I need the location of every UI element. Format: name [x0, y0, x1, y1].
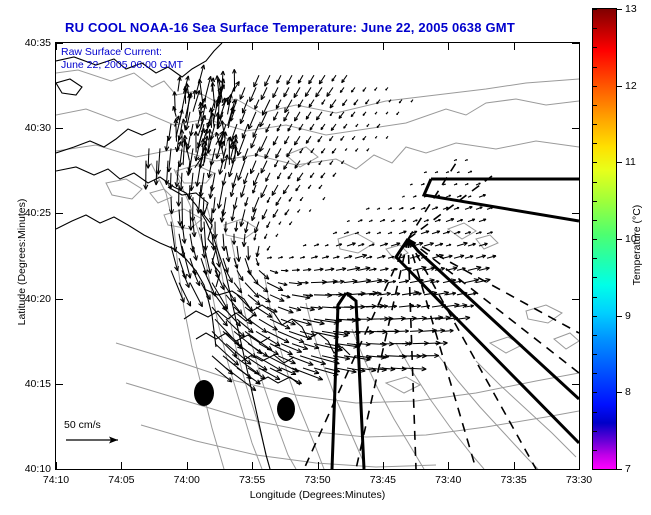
x-tick-mark [514, 462, 515, 469]
current-vector [217, 113, 218, 130]
page-title: RU COOL NOAA-16 Sea Surface Temperature:… [0, 20, 580, 35]
colorbar-minor-tick [593, 392, 597, 393]
colorbar-tick-label: 9 [625, 310, 631, 322]
x-tick-mark [448, 462, 449, 469]
colorbar-minor-tick [593, 67, 597, 68]
current-vector [156, 161, 157, 185]
x-tick-label: 73:45 [370, 474, 396, 486]
figure-root: RU COOL NOAA-16 Sea Surface Temperature:… [0, 0, 651, 515]
x-tick-mark-top [318, 43, 319, 50]
colorbar-minor-tick [593, 143, 597, 144]
x-tick-mark-top [252, 43, 253, 50]
current-vector-head [305, 245, 306, 246]
y-tick-mark [56, 299, 63, 300]
annotation-line-1: Raw Surface Current: [61, 46, 183, 59]
plot-area[interactable]: Raw Surface Current: June 22, 2005 06:00… [55, 42, 580, 470]
x-tick-label: 74:05 [108, 474, 134, 486]
colorbar-minor-tick [593, 162, 597, 163]
annotation-block: Raw Surface Current: June 22, 2005 06:00… [61, 46, 183, 72]
current-vector [245, 331, 272, 350]
y-tick-label: 40:35 [25, 37, 51, 49]
current-vector-head [309, 211, 310, 212]
colorbar-tick-mark [617, 469, 622, 470]
x-tick-mark [56, 462, 57, 469]
y-tick-label: 40:20 [25, 293, 51, 305]
current-vector [202, 139, 203, 160]
colorbar-tick-mark [617, 9, 622, 10]
current-vector [182, 130, 183, 148]
y-tick-mark-right [572, 213, 579, 214]
colorbar-minor-tick [593, 239, 597, 240]
colorbar-minor-tick [593, 182, 597, 183]
y-tick-label: 40:15 [25, 378, 51, 390]
y-tick-mark-right [572, 299, 579, 300]
y-tick-label: 40:25 [25, 207, 51, 219]
current-vector [148, 148, 149, 168]
y-axis-label: Latitude (Degrees:Minutes) [16, 162, 28, 362]
current-vector-head [456, 160, 457, 161]
colorbar-minor-tick [593, 220, 597, 221]
scale-key-label: 50 cm/s [64, 419, 126, 431]
y-tick-mark [56, 469, 63, 470]
y-tick-mark [56, 43, 63, 44]
colorbar-minor-tick [593, 316, 597, 317]
y-tick-mark-right [572, 43, 579, 44]
x-tick-mark-top [187, 43, 188, 50]
current-vector [270, 295, 284, 301]
colorbar-tick-mark [617, 86, 622, 87]
colorbar-tick-label: 13 [625, 3, 637, 15]
colorbar-minor-tick [593, 297, 597, 298]
current-vector [245, 283, 259, 298]
scale-key: 50 cm/s [64, 419, 126, 451]
colorbar-minor-tick [593, 201, 597, 202]
colorbar-minor-tick [593, 469, 597, 470]
current-vector [175, 92, 176, 112]
radar-beam-dashed [304, 163, 579, 469]
current-vector [196, 65, 204, 94]
colorbar-minor-tick [593, 124, 597, 125]
colorbar-minor-tick [593, 28, 597, 29]
colorbar-tick-mark [617, 316, 622, 317]
y-tick-mark-right [572, 128, 579, 129]
y-tick-label: 40:10 [25, 463, 51, 475]
y-tick-label: 40:30 [25, 122, 51, 134]
colorbar-minor-tick [593, 277, 597, 278]
colorbar-tick-label: 12 [625, 80, 637, 92]
x-tick-label: 73:50 [304, 474, 330, 486]
colorbar-tick-mark [617, 162, 622, 163]
colorbar-tick-mark [617, 239, 622, 240]
colorbar-tick-mark [617, 392, 622, 393]
current-vector [260, 136, 267, 151]
x-tick-mark-top [56, 43, 57, 50]
current-vector [278, 331, 304, 342]
current-vector [190, 283, 202, 307]
current-vector [170, 173, 171, 189]
colorbar-minor-tick [593, 373, 597, 374]
x-tick-mark-top [383, 43, 384, 50]
map-overlay-svg [56, 43, 579, 469]
annotation-line-2: June 22, 2005 06:00 GMT [61, 59, 183, 72]
y-tick-mark [56, 213, 63, 214]
current-vector-head [437, 172, 438, 173]
plot-canvas [56, 43, 579, 469]
surface-current-vectors [144, 65, 496, 391]
colorbar-tick-label: 7 [625, 463, 631, 475]
colorbar-tick-label: 8 [625, 386, 631, 398]
x-tick-label: 73:35 [500, 474, 526, 486]
x-tick-mark-top [579, 43, 580, 50]
y-tick-mark-right [572, 469, 579, 470]
current-vector-head [345, 150, 346, 151]
y-tick-mark [56, 384, 63, 385]
x-tick-label: 73:40 [435, 474, 461, 486]
x-tick-mark [252, 462, 253, 469]
x-tick-mark [121, 462, 122, 469]
current-vector [238, 136, 245, 156]
x-tick-mark [579, 462, 580, 469]
x-tick-label: 74:10 [43, 474, 69, 486]
x-axis-label: Longitude (Degrees:Minutes) [55, 489, 580, 501]
x-tick-label: 74:00 [174, 474, 200, 486]
current-vector [248, 270, 258, 284]
current-vector [182, 270, 189, 287]
colorbar-minor-tick [593, 47, 597, 48]
current-vector [171, 270, 184, 302]
colorbar-title: Temperature (°C) [631, 145, 643, 345]
colorbar-minor-tick [593, 335, 597, 336]
colorbar-minor-tick [593, 105, 597, 106]
x-tick-label: 73:55 [239, 474, 265, 486]
colorbar-minor-tick [593, 450, 597, 451]
current-vector [250, 87, 256, 101]
colorbar-minor-tick [593, 9, 597, 10]
right-arrow-icon [64, 434, 126, 446]
x-tick-mark-top [448, 43, 449, 50]
current-vector [183, 139, 185, 165]
x-tick-mark [187, 462, 188, 469]
colorbar-minor-tick [593, 86, 597, 87]
current-vector [248, 246, 249, 260]
current-vector [171, 197, 172, 214]
y-tick-mark [56, 128, 63, 129]
colorbar-minor-tick [593, 258, 597, 259]
y-tick-mark-right [572, 384, 579, 385]
colorbar-minor-tick [593, 431, 597, 432]
colorbar-minor-tick [593, 412, 597, 413]
current-vector [249, 112, 256, 129]
x-tick-mark-top [514, 43, 515, 50]
x-tick-label: 73:30 [566, 474, 592, 486]
colorbar-minor-tick [593, 354, 597, 355]
x-tick-mark [318, 462, 319, 469]
x-tick-mark [383, 462, 384, 469]
